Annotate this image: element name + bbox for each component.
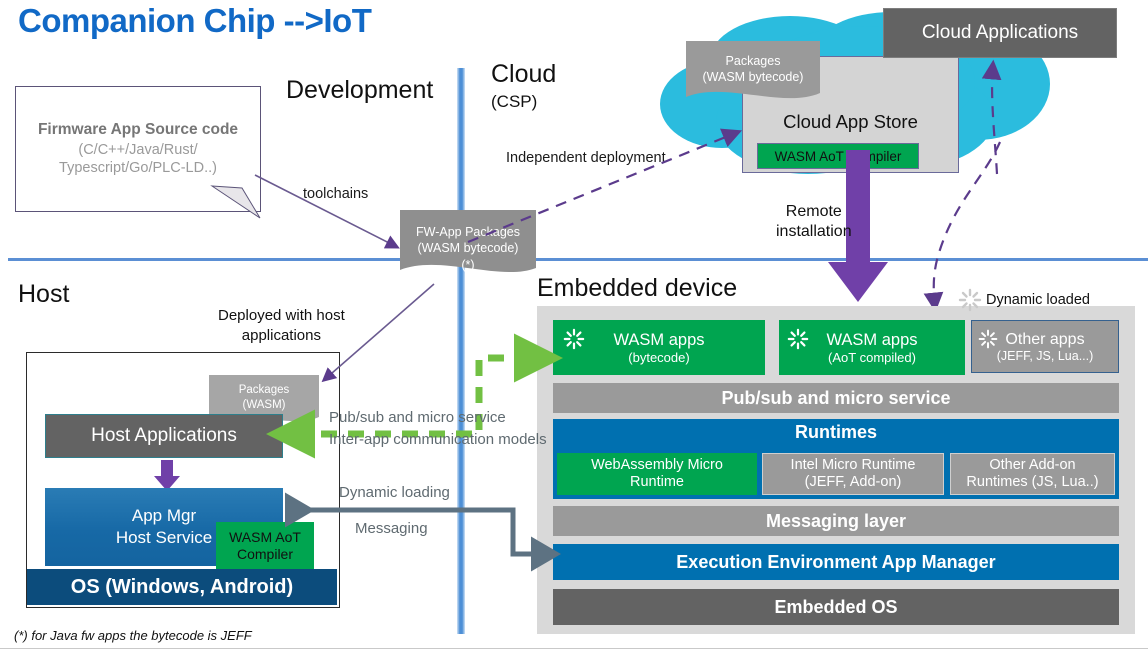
host-os-box: OS (Windows, Android) [27,569,337,605]
bottom-rule [0,648,1148,649]
messaging-layer-label: Messaging layer [766,511,906,532]
firmware-source-line3: Typescript/Go/PLC-LD..) [59,159,217,178]
spinner-icon [978,329,998,349]
divider-horizontal-right [470,258,1148,261]
runtime-line2: Runtimes (JS, Lua..) [966,474,1098,491]
remote-installation-line2: installation [776,222,852,242]
runtime-line2: (JEFF, Add-on) [805,474,902,491]
cloud-applications-label: Cloud Applications [922,22,1078,44]
page-title: Companion Chip -->IoT [18,2,371,40]
app-sub: (bytecode) [628,350,689,365]
embedded-pubsub-bar: Pub/sub and micro service [553,383,1119,413]
arrow-toolchains [255,175,415,260]
section-sublabel-cloud: (CSP) [491,92,537,112]
dynamic-loaded-spinner-icon [958,288,982,312]
runtimes-title: Runtimes [553,419,1119,443]
dynamic-loaded-label: Dynamic loaded [986,292,1090,308]
host-os-label: OS (Windows, Android) [71,576,293,599]
app-name: WASM apps [826,331,917,350]
section-label-development: Development [286,76,433,105]
runtime-line2: Runtime [630,474,684,491]
messaging-label: Messaging [355,520,428,537]
embedded-os: Embedded OS [553,589,1119,625]
spinner-icon [787,328,809,350]
fw-packages-line3: (*) [400,257,536,273]
section-label-embedded-device: Embedded device [537,274,737,303]
runtime-intel-micro: Intel Micro Runtime (JEFF, Add-on) [762,453,944,495]
section-label-cloud: Cloud [491,60,556,89]
app-name: Other apps [1005,331,1084,349]
remote-installation-line1: Remote [776,202,852,222]
embedded-os-label: Embedded OS [774,597,897,618]
runtime-wasm-micro: WebAssembly Micro Runtime [557,453,757,495]
embedded-app-wasm-aot: WASM apps (AoT compiled) [779,320,965,375]
app-mgr-line2: Host Service [116,527,212,549]
app-manager-label: Execution Environment App Manager [676,552,995,573]
section-label-host: Host [18,280,69,309]
slide-canvas: Companion Chip -->IoT Development Cloud … [0,0,1148,653]
embedded-app-wasm-bytecode: WASM apps (bytecode) [553,320,765,375]
app-mgr-line1: App Mgr [132,505,196,527]
pubsub-bar-label: Pub/sub and micro service [721,388,950,409]
runtime-other-addon: Other Add-on Runtimes (JS, Lua..) [950,453,1115,495]
embedded-messaging-layer: Messaging layer [553,506,1119,536]
pubsub-label-line1: Pub/sub and micro service [329,409,506,426]
host-applications-box: Host Applications [45,414,283,458]
host-applications-label: Host Applications [91,425,237,447]
footnote: (*) for Java fw apps the bytecode is JEF… [14,628,252,643]
pubsub-label-line2: Inter-app communication models [329,431,547,448]
cloud-packages-line1: Packages [686,53,820,69]
arrow-independent-deployment [466,118,766,248]
remote-installation-label: Remote installation [776,202,852,242]
runtime-line1: Other Add-on [989,457,1075,474]
embedded-app-other: Other apps (JEFF, JS, Lua...) [971,320,1119,373]
runtime-line1: Intel Micro Runtime [791,457,916,474]
dynamic-loading-label: Dynamic loading [339,484,450,501]
cloud-packages-line2: (WASM bytecode) [686,69,820,85]
firmware-source-title: Firmware App Source code [38,120,238,140]
embedded-app-manager: Execution Environment App Manager [553,544,1119,580]
app-sub: (JEFF, JS, Lua...) [997,349,1094,363]
runtime-line1: WebAssembly Micro [591,457,723,474]
app-name: WASM apps [613,331,704,350]
cloud-app-store-label: Cloud App Store [743,111,958,133]
app-sub: (AoT compiled) [828,350,916,365]
cloud-packages-callout: Packages (WASM bytecode) [686,41,820,109]
cloud-applications-box: Cloud Applications [883,8,1117,58]
firmware-source-line2: (C/C++/Java/Rust/ [78,141,197,160]
